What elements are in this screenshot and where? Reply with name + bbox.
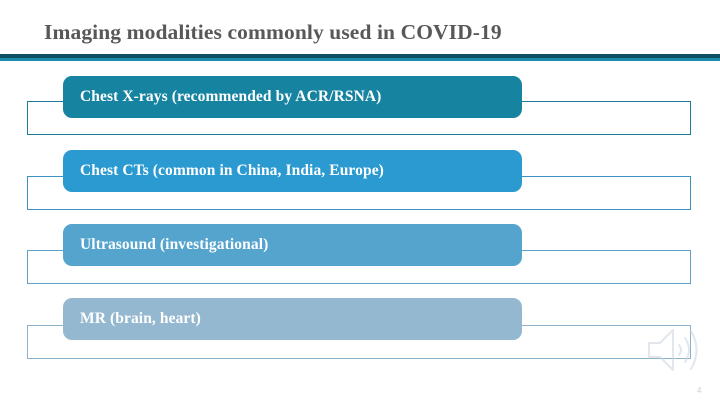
presentation-slide: Imaging modalities commonly used in COVI… (0, 0, 720, 405)
process-row-label: Chest CTs (common in China, India, Europ… (63, 162, 384, 180)
process-row-label: MR (brain, heart) (63, 310, 201, 328)
title-divider-light-band (0, 58, 720, 61)
process-row-label: Chest X-rays (recommended by ACR/RSNA) (63, 88, 381, 106)
speaker-audio-icon[interactable] (645, 324, 701, 376)
process-row-pill[interactable]: MR (brain, heart) (63, 298, 522, 340)
process-row-pill[interactable]: Ultrasound (investigational) (63, 224, 522, 266)
process-row-label: Ultrasound (investigational) (63, 236, 268, 254)
page-number: 4 (697, 386, 701, 395)
process-row-pill[interactable]: Chest X-rays (recommended by ACR/RSNA) (63, 76, 522, 118)
page-title: Imaging modalities commonly used in COVI… (44, 20, 674, 45)
title-divider (0, 54, 720, 61)
process-row-pill[interactable]: Chest CTs (common in China, India, Europ… (63, 150, 522, 192)
